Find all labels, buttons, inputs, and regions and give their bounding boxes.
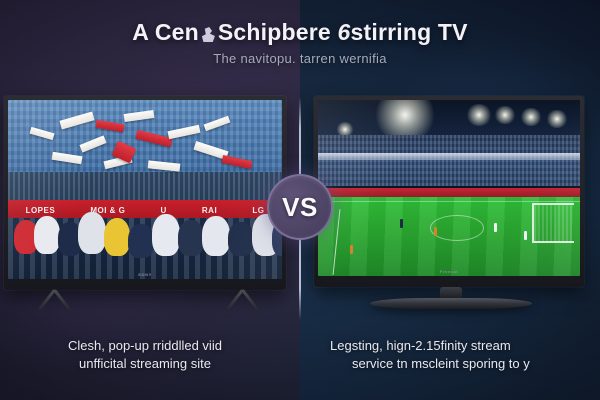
right-comparison-panel: Finnsat: [306, 96, 596, 328]
stadium-tier-divider: [318, 153, 580, 160]
vs-badge: VS: [267, 174, 333, 240]
right-television: Finnsat: [306, 96, 596, 313]
right-caption: Legsting, hign-2.15finity stream service…: [330, 337, 600, 374]
left-comparison-panel: LOPES MOI & G U RAI LG: [4, 96, 294, 328]
stadium-scene-image: [318, 100, 580, 276]
crowd-fan: [202, 216, 230, 256]
page-subtitle: The navitopu. tarren wernifia: [0, 51, 600, 66]
player: [400, 219, 403, 228]
left-caption-line-1: Clesh, pop-up rriddlled viid: [0, 337, 290, 355]
crowd-fan: [78, 212, 106, 254]
touchline: [318, 201, 580, 202]
left-tv-bezel: LOPES MOI & G U RAI LG: [4, 96, 286, 290]
left-caption: Clesh, pop-up rriddlled viid unfficital …: [0, 337, 290, 374]
title-segment-3: stirring TV: [351, 19, 468, 45]
football-pitch: [318, 197, 580, 276]
crowd-fan: [128, 224, 154, 258]
floodlight: [520, 108, 542, 126]
crowd-fan: [34, 216, 60, 254]
player: [494, 223, 497, 232]
adboard-text-0: LOPES: [26, 206, 56, 215]
right-caption-line-2: service tn mscleint sporing to y: [352, 355, 600, 373]
left-tv-stand: [4, 290, 294, 316]
left-television: LOPES MOI & G U RAI LG: [4, 96, 294, 316]
title-segment-2: Schipbere: [218, 19, 338, 45]
right-caption-line-1: Legsting, hign-2.15finity stream: [330, 337, 600, 355]
header: A CenSchipbere 6stirring TV The navitopu…: [0, 20, 600, 66]
right-tv-stand: [306, 287, 596, 313]
player: [524, 231, 527, 240]
right-tv-brand-logo: Finnsat: [440, 269, 458, 274]
right-tv-stand-base: [370, 298, 532, 309]
adboard-text-3: RAI: [202, 206, 217, 215]
penalty-arc: [430, 215, 484, 241]
player: [350, 245, 353, 254]
vs-badge-label: VS: [282, 192, 318, 223]
title-segment-1: A Cen: [132, 19, 199, 45]
right-tv-screen: Finnsat: [318, 100, 580, 276]
garbled-glyph-icon: [200, 24, 217, 44]
floodlight: [466, 104, 492, 126]
right-tv-bezel: Finnsat: [314, 96, 584, 287]
page-title: A CenSchipbere 6stirring TV: [0, 20, 600, 45]
infographic-canvas: A CenSchipbere 6stirring TV The navitopu…: [0, 0, 600, 400]
crowd-fan: [178, 220, 204, 256]
crowd-scene-image: LOPES MOI & G U RAI LG: [8, 100, 282, 279]
left-caption-line-2: unfficital streaming site: [0, 355, 290, 373]
title-italic-glyph: 6: [338, 19, 351, 45]
left-tv-screen: LOPES MOI & G U RAI LG: [8, 100, 282, 279]
player: [434, 227, 437, 236]
crowd-fan: [152, 214, 180, 256]
left-tv-foot-right: [214, 290, 272, 312]
goal-net: [532, 203, 574, 243]
left-tv-brand-logo: SONY: [138, 272, 152, 277]
floodlight: [494, 106, 516, 124]
stadium-stands-crowd: [318, 135, 580, 186]
sideline-left: [333, 209, 341, 275]
crowd-fan: [104, 218, 130, 256]
left-tv-foot-left: [26, 290, 84, 312]
floodlight: [546, 110, 568, 128]
crowd-fan: [228, 222, 254, 256]
